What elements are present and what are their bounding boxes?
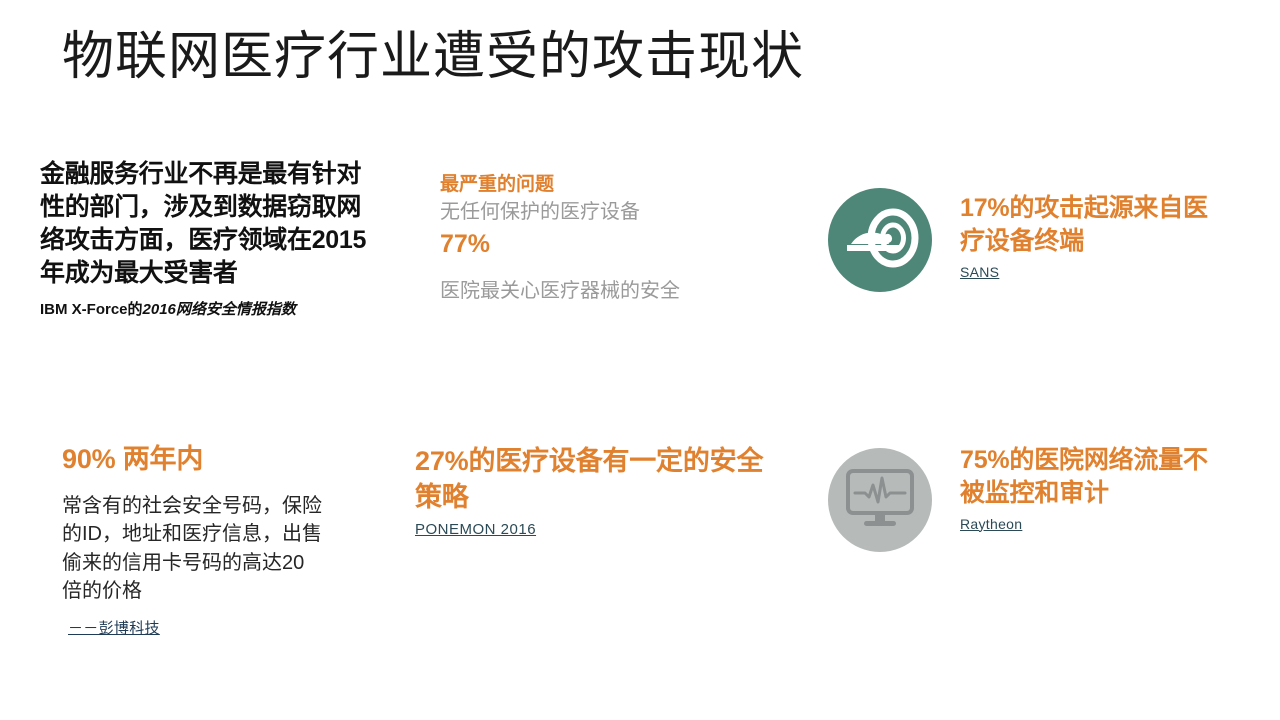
mid-bottom-source-link[interactable]: PONEMON 2016 (415, 521, 536, 538)
stat-block-mid-top: 最严重的问题 无任何保护的医疗设备 77% 医院最关心医疗器械的安全 (440, 172, 760, 306)
left-top-source-prefix: IBM X-Force的 (40, 301, 143, 318)
mid-top-kicker: 最严重的问题 (440, 172, 760, 198)
mri-scanner-icon (828, 188, 932, 292)
right-bottom-source-link[interactable]: Raytheon (960, 516, 1022, 532)
right-bottom-heading: 75%的医院网络流量不被监控和审计 (960, 444, 1210, 511)
mid-bottom-heading: 27%的医疗设备有一定的安全策略 (415, 444, 785, 516)
left-top-source-italic: 2016网络安全情报指数 (143, 301, 296, 318)
right-top-heading: 17%的攻击起源来自医疗设备终端 (960, 192, 1230, 259)
stat-block-left-bottom: 90% 两年内 常含有的社会安全号码，保险的ID，地址和医疗信息，出售偷来的信用… (62, 442, 322, 638)
vitals-monitor-icon (828, 448, 932, 552)
left-bottom-body: 常含有的社会安全号码，保险的ID，地址和医疗信息，出售偷来的信用卡号码的高达20… (62, 492, 322, 606)
mid-top-note: 医院最关心医疗器械的安全 (440, 277, 760, 306)
mid-top-percent: 77% (440, 228, 760, 262)
right-top-source-link[interactable]: SANS (960, 264, 999, 280)
stat-block-mid-bottom: 27%的医疗设备有一定的安全策略 PONEMON 2016 (415, 444, 785, 539)
stat-block-right-bottom: 75%的医院网络流量不被监控和审计 Raytheon (960, 444, 1210, 534)
mid-top-subtitle: 无任何保护的医疗设备 (440, 198, 760, 227)
page-title: 物联网医疗行业遭受的攻击现状 (62, 14, 804, 89)
stat-block-left-top: 金融服务行业不再是最有针对性的部门，涉及到数据窃取网络攻击方面，医疗领域在201… (40, 158, 382, 319)
left-top-source: IBM X-Force的2016网络安全情报指数 (40, 298, 382, 319)
stat-block-right-top: 17%的攻击起源来自医疗设备终端 SANS (960, 192, 1230, 282)
left-bottom-source-link[interactable]: －－彭博科技 (68, 617, 160, 638)
left-bottom-heading: 90% 两年内 (62, 442, 322, 478)
left-top-lead-text: 金融服务行业不再是最有针对性的部门，涉及到数据窃取网络攻击方面，医疗领域在201… (40, 158, 382, 290)
